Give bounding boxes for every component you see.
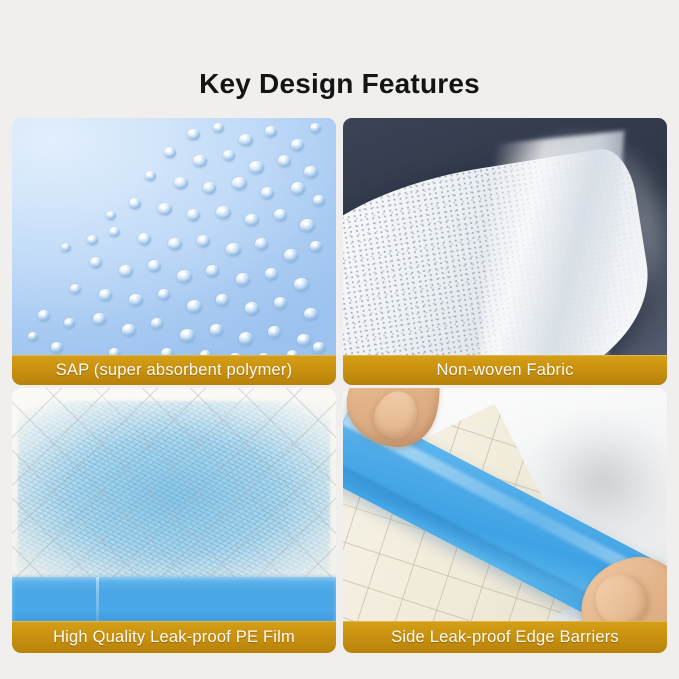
- sap-beads-cluster: [12, 118, 336, 385]
- feature-panel-sap: SAP (super absorbent polymer): [12, 118, 336, 385]
- feature-grid: SAP (super absorbent polymer) Non-woven …: [12, 118, 667, 653]
- pe-film-crease: [96, 577, 99, 623]
- sap-photo: [12, 118, 336, 385]
- page-title: Key Design Features: [0, 67, 679, 101]
- feature-caption-non-woven-fabric: Non-woven Fabric: [343, 355, 667, 385]
- non-woven-fold-highlight: [477, 131, 623, 385]
- feature-caption-edge-barriers: Side Leak-proof Edge Barriers: [343, 621, 667, 653]
- pe-film-strip: [12, 577, 336, 623]
- non-woven-fabric-photo: [343, 118, 667, 385]
- edge-barriers-photo: [343, 388, 667, 653]
- feature-panel-edge-barriers: Side Leak-proof Edge Barriers: [343, 388, 667, 653]
- feature-caption-pe-film: High Quality Leak-proof PE Film: [12, 621, 336, 653]
- feature-panel-non-woven-fabric: Non-woven Fabric: [343, 118, 667, 385]
- pe-film-photo: [12, 388, 336, 653]
- feature-panel-pe-film: High Quality Leak-proof PE Film: [12, 388, 336, 653]
- key-design-features-page: Key Design Features: [0, 0, 679, 679]
- feature-caption-sap: SAP (super absorbent polymer): [12, 355, 336, 385]
